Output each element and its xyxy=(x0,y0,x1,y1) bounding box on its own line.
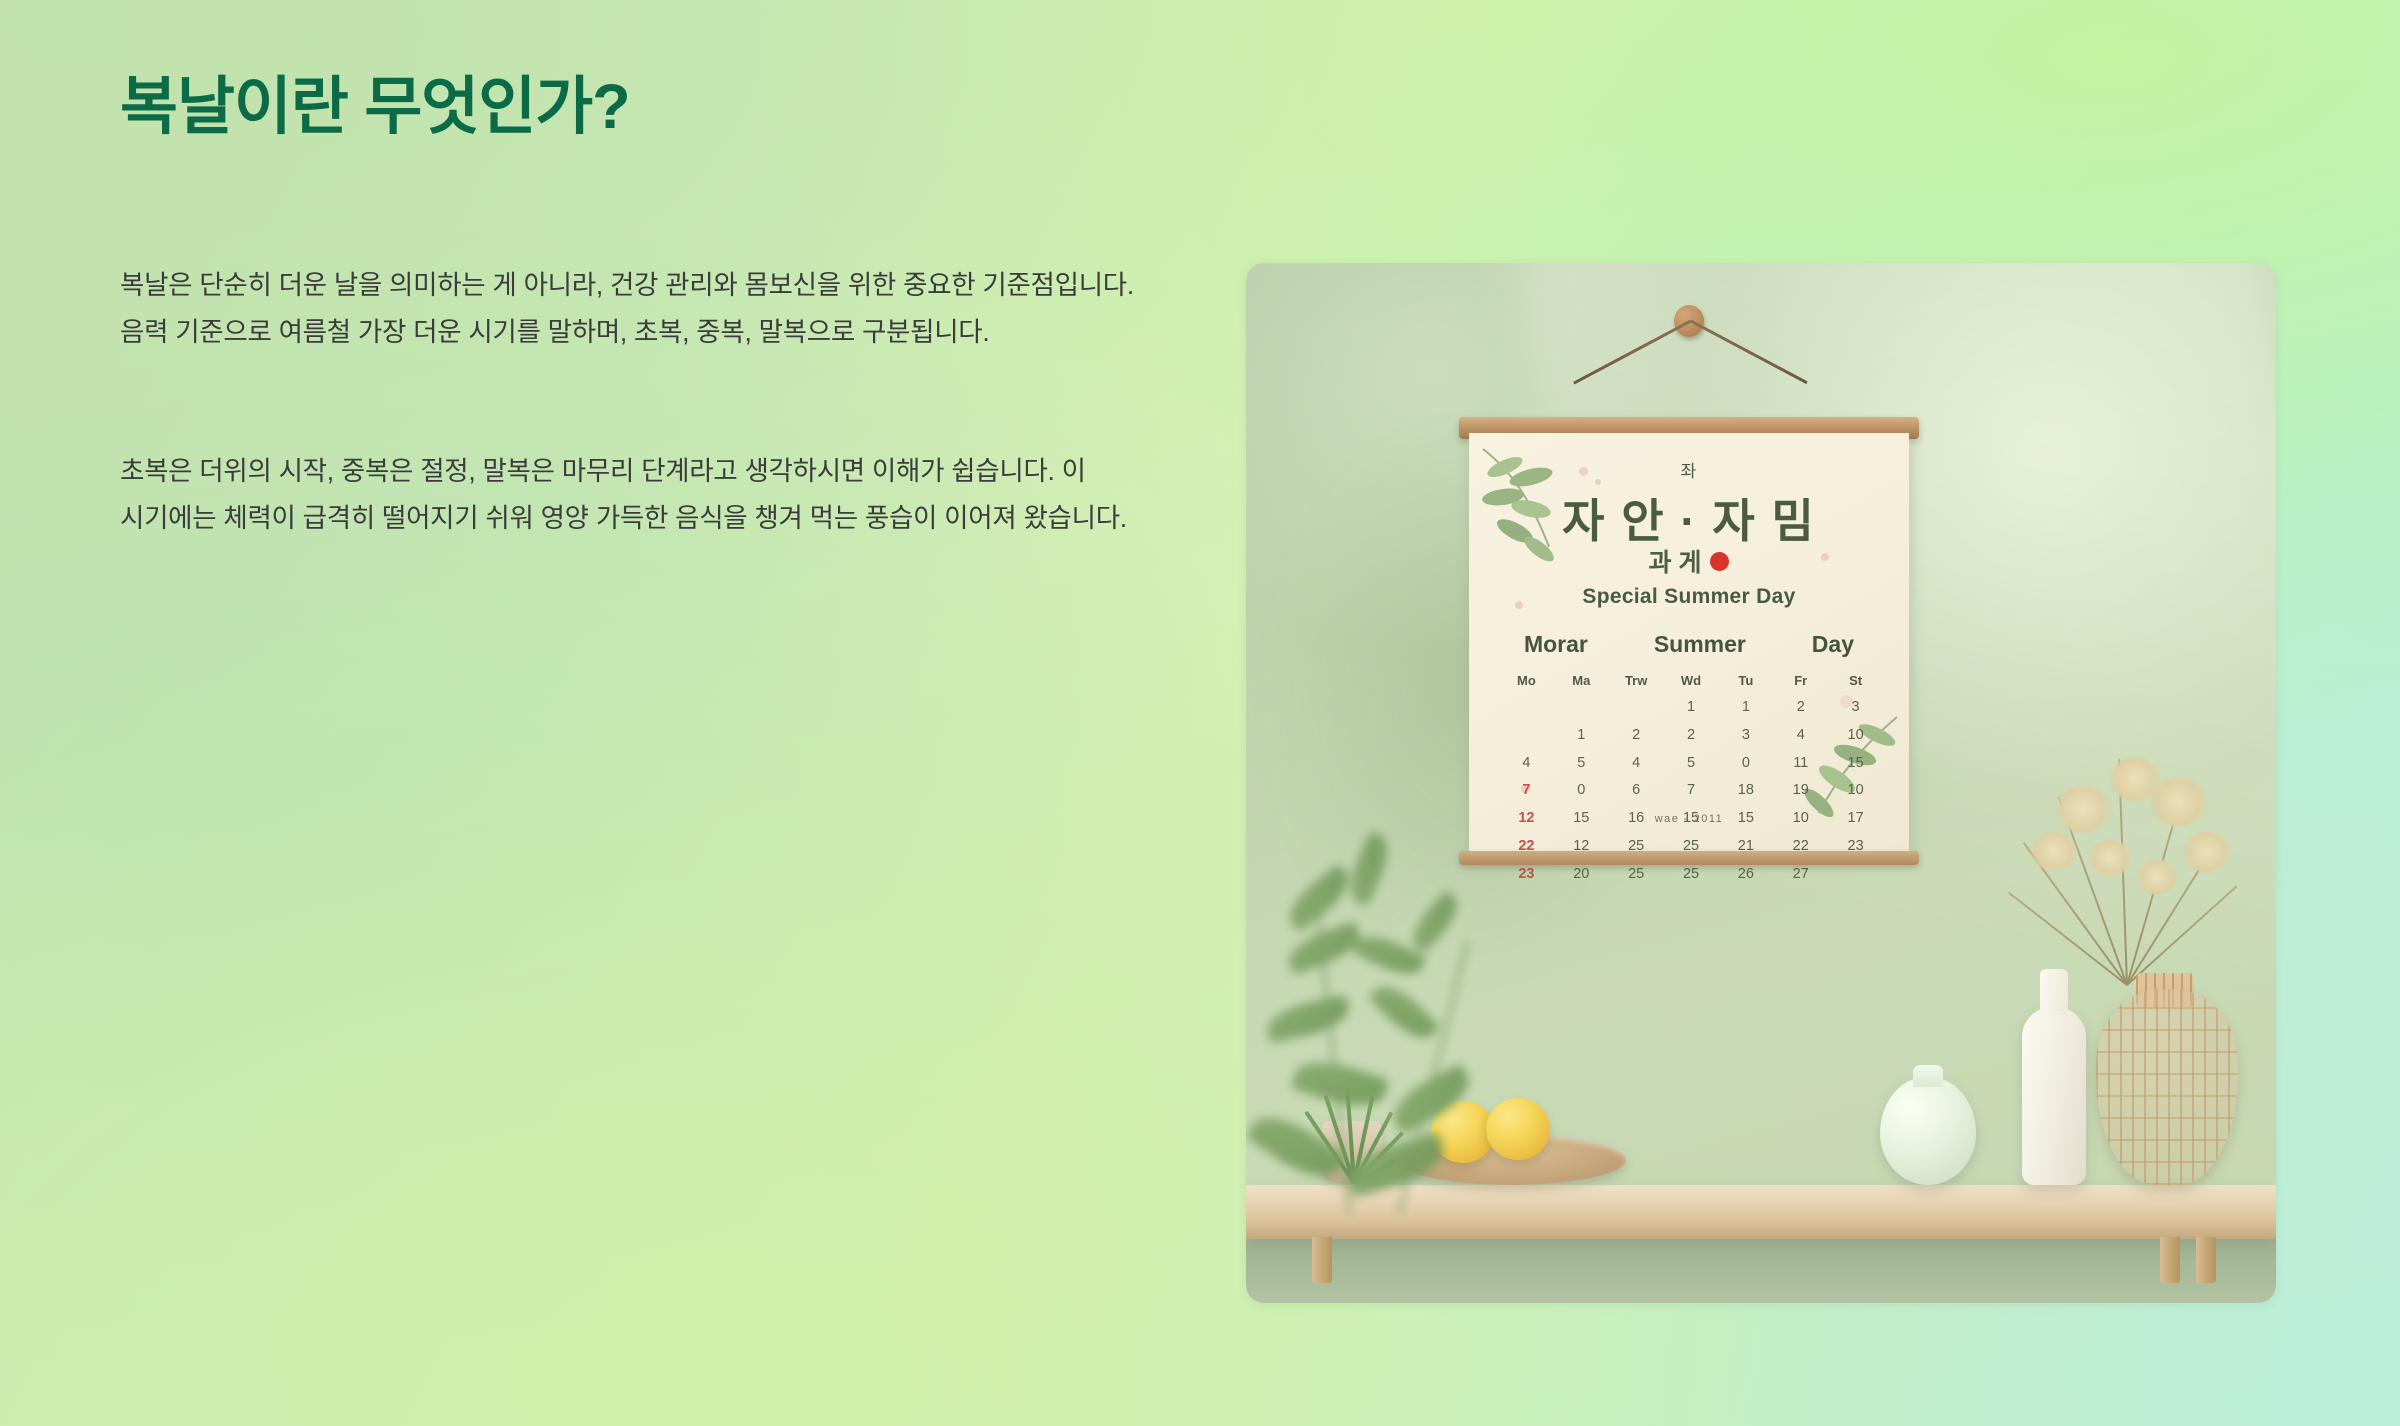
cell: 19 xyxy=(1773,777,1828,805)
poster-title: 자 안 · 자 밈 xyxy=(1469,485,1909,551)
cord-left xyxy=(1573,320,1691,384)
cell: 20 xyxy=(1554,861,1609,889)
cell: 2 xyxy=(1773,694,1828,722)
cell: 10 xyxy=(1828,722,1883,750)
calendar-heading-2: Summer xyxy=(1654,631,1746,658)
leaf xyxy=(1368,976,1441,1048)
calendar-week-row: 1 1 2 3 xyxy=(1499,694,1883,722)
cell: 25 xyxy=(1664,861,1719,889)
cell: 1 xyxy=(1554,722,1609,750)
page-root: 복날이란 무엇인가? 복날은 단순히 더운 날을 의미하는 게 아니라, 건강 … xyxy=(0,0,2400,1426)
cell xyxy=(1554,694,1609,722)
shelf-leg-right xyxy=(2160,1237,2180,1283)
dried-flowers xyxy=(2030,755,2246,985)
shelf-leg-left xyxy=(1312,1237,1332,1283)
calendar-week-row: 23 20 25 25 26 27 xyxy=(1499,861,1883,889)
cell: 1 xyxy=(1718,694,1773,722)
cell xyxy=(1499,694,1554,722)
cell: 11 xyxy=(1773,750,1828,778)
leaf xyxy=(1264,995,1353,1044)
poster-top-mark: 좌 xyxy=(1469,457,1909,482)
white-round-vase xyxy=(1880,1077,1976,1185)
dow-4: Tu xyxy=(1718,669,1773,694)
white-bottle-vase xyxy=(2022,1007,2086,1185)
cell: 4 xyxy=(1609,750,1664,778)
page-title: 복날이란 무엇인가? xyxy=(120,56,630,147)
cell xyxy=(1828,861,1883,889)
cell: 5 xyxy=(1664,750,1719,778)
leaf xyxy=(1385,1063,1478,1135)
flower-puff xyxy=(2088,839,2132,877)
under-shelf-shadow xyxy=(1246,1237,2276,1303)
dow-0: Mo xyxy=(1499,669,1554,694)
calendar-week-row: 4 5 4 5 0 11 15 xyxy=(1499,750,1883,778)
rattan-vase xyxy=(2096,989,2238,1185)
cell: 2 xyxy=(1609,722,1664,750)
leaf xyxy=(1405,890,1466,953)
leaf xyxy=(1290,1052,1389,1117)
cell: 10 xyxy=(1828,777,1883,805)
calendar-day-headers: Mo Ma Trw Wd Tu Fr St xyxy=(1499,669,1883,694)
flower-puff xyxy=(2054,785,2112,833)
flower-puff xyxy=(2030,831,2078,871)
stem xyxy=(2126,885,2237,986)
poster-subtitle: 과 게 xyxy=(1649,543,1702,579)
cell: 18 xyxy=(1718,777,1773,805)
cell: 6 xyxy=(1609,777,1664,805)
cell: 3 xyxy=(1828,694,1883,722)
red-dot-icon xyxy=(1710,552,1729,571)
poster-footer-text: wae - 2011 xyxy=(1469,813,1909,825)
calendar-heading-1: Morar xyxy=(1524,631,1588,658)
shelf-edge xyxy=(1246,1225,2276,1239)
poster-subtitle-row: 과 게 xyxy=(1469,543,1909,579)
cell: 0 xyxy=(1718,750,1773,778)
calendar-week-row: 7 0 6 7 18 19 10 xyxy=(1499,777,1883,805)
flower-puff xyxy=(2136,859,2178,895)
poster-english-title: Special Summer Day xyxy=(1469,585,1909,609)
dow-1: Ma xyxy=(1554,669,1609,694)
leaf xyxy=(1342,831,1396,906)
shelf-leg-right-2 xyxy=(2196,1237,2216,1283)
cell: 26 xyxy=(1718,861,1773,889)
dow-5: Fr xyxy=(1773,669,1828,694)
cell: 15 xyxy=(1828,750,1883,778)
cell: 3 xyxy=(1718,722,1773,750)
cell: 2 xyxy=(1664,722,1719,750)
dow-2: Trw xyxy=(1609,669,1664,694)
leaf xyxy=(1342,1132,1449,1198)
article-column: 복날이란 무엇인가? 복날은 단순히 더운 날을 의미하는 게 아니라, 건강 … xyxy=(120,0,1170,1426)
article-paragraph-1: 복날은 단순히 더운 날을 의미하는 게 아니라, 건강 관리와 몸보신을 위한… xyxy=(120,262,1160,356)
dow-6: St xyxy=(1828,669,1883,694)
calendar-heading-3: Day xyxy=(1812,631,1854,658)
foreground-leafy-branch xyxy=(1246,753,1528,1213)
leaf xyxy=(1246,1104,1347,1191)
flower-puff xyxy=(2182,831,2232,873)
cell: 5 xyxy=(1554,750,1609,778)
cell: 0 xyxy=(1554,777,1609,805)
flower-puff xyxy=(2148,777,2208,827)
cell xyxy=(1499,722,1554,750)
dow-3: Wd xyxy=(1664,669,1719,694)
wooden-dowel-bottom xyxy=(1459,851,1919,865)
article-paragraph-2: 초복은 더위의 시작, 중복은 절정, 말복은 마무리 단계라고 생각하시면 이… xyxy=(120,448,1160,542)
calendar-week-row: 1 2 2 3 4 10 xyxy=(1499,722,1883,750)
cell: 1 xyxy=(1664,694,1719,722)
cell: 4 xyxy=(1773,722,1828,750)
cell: 7 xyxy=(1664,777,1719,805)
cell: 25 xyxy=(1609,861,1664,889)
cell xyxy=(1609,694,1664,722)
cell: 27 xyxy=(1773,861,1828,889)
cord-right xyxy=(1690,320,1808,384)
calendar-heading: Morar Summer Day xyxy=(1491,631,1887,658)
hero-photo: 좌 자 안 · 자 밈 과 게 Special Summer Day Morar… xyxy=(1246,263,2276,1303)
hanging-poster: 좌 자 안 · 자 밈 과 게 Special Summer Day Morar… xyxy=(1459,305,1919,865)
poster-sheet: 좌 자 안 · 자 밈 과 게 Special Summer Day Morar… xyxy=(1469,433,1909,851)
